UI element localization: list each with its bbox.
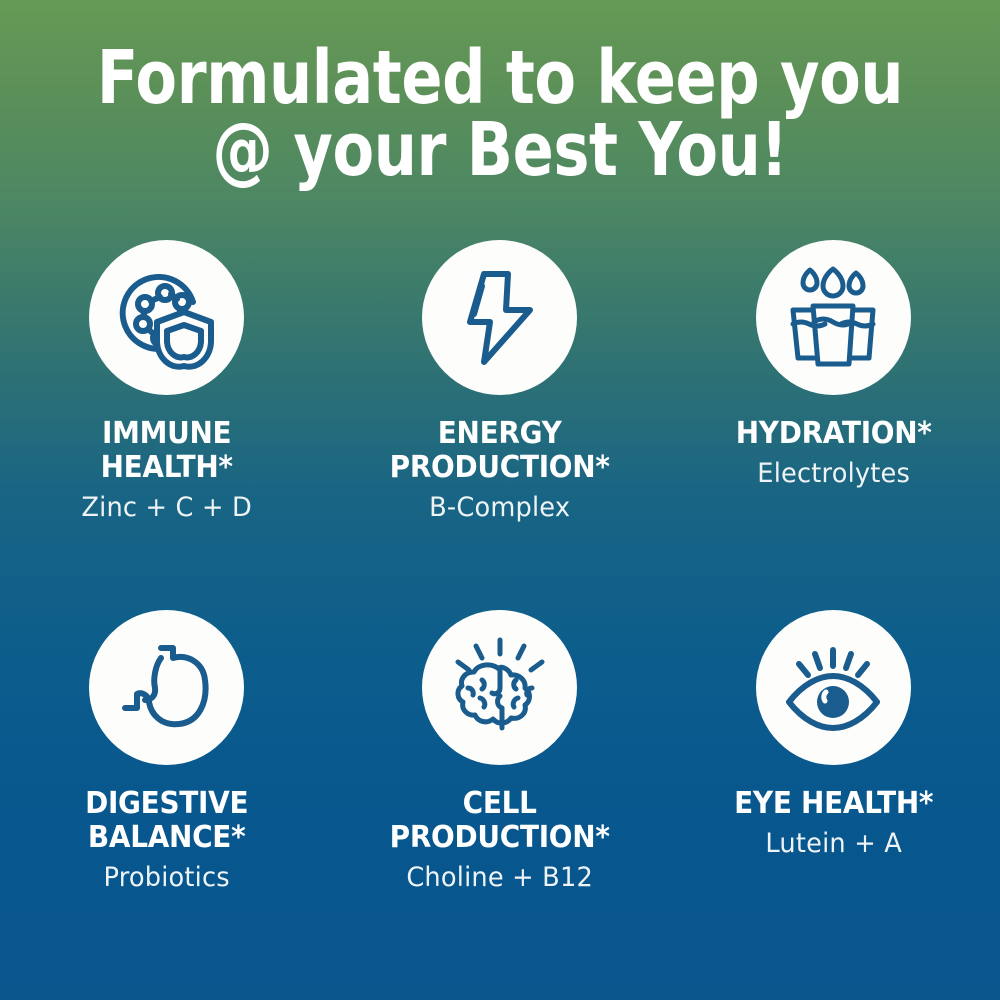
benefit-subtitle: B-Complex bbox=[342, 491, 659, 525]
benefit-labels: IMMUNE HEALTH* Zinc + C + D bbox=[0, 417, 333, 525]
benefit-title: HYDRATION* bbox=[678, 417, 988, 451]
promo-poster: Formulated to keep you @ your Best You! bbox=[0, 0, 1000, 1000]
benefit-title: EYE HEALTH* bbox=[678, 787, 988, 821]
stomach-icon bbox=[89, 610, 244, 765]
benefit-title: IMMUNE HEALTH* bbox=[12, 417, 322, 485]
brain-icon bbox=[422, 610, 577, 765]
benefit-title-line-1: CELL bbox=[463, 786, 537, 821]
benefit-subtitle: Lutein + A bbox=[675, 827, 992, 861]
benefit-title-line-1: EYE HEALTH* bbox=[734, 786, 933, 821]
benefits-grid: IMMUNE HEALTH* Zinc + C + D ENERGY PRODU… bbox=[0, 240, 1000, 980]
benefit-title: CELL PRODUCTION* bbox=[345, 787, 655, 855]
benefit-labels: ENERGY PRODUCTION* B-Complex bbox=[333, 417, 666, 525]
benefit-title-line-1: ENERGY bbox=[438, 416, 562, 451]
headline-line-1: Formulated to keep you bbox=[90, 42, 910, 114]
benefit-subtitle: Electrolytes bbox=[675, 457, 992, 491]
headline-line-2: @ your Best You! bbox=[90, 114, 910, 186]
benefit-item-eye-health: EYE HEALTH* Lutein + A bbox=[667, 610, 1000, 980]
benefit-item-energy-production: ENERGY PRODUCTION* B-Complex bbox=[333, 240, 666, 610]
benefit-item-hydration: HYDRATION* Electrolytes bbox=[667, 240, 1000, 610]
benefit-labels: EYE HEALTH* Lutein + A bbox=[667, 787, 1000, 861]
benefit-title: ENERGY PRODUCTION* bbox=[345, 417, 655, 485]
benefit-title-line-2: PRODUCTION* bbox=[390, 450, 610, 485]
benefit-title: DIGESTIVE BALANCE* bbox=[12, 787, 322, 855]
benefit-title-line-2: BALANCE* bbox=[88, 820, 245, 855]
benefit-item-cell-production: CELL PRODUCTION* Choline + B12 bbox=[333, 610, 666, 980]
eye-icon bbox=[756, 610, 911, 765]
benefit-title-line-1: HYDRATION* bbox=[735, 416, 931, 451]
benefit-subtitle: Probiotics bbox=[8, 861, 325, 895]
benefit-title-line-2: PRODUCTION* bbox=[390, 820, 610, 855]
benefit-subtitle: Choline + B12 bbox=[342, 861, 659, 895]
water-glasses-icon bbox=[756, 240, 911, 395]
benefit-title-line-1: IMMUNE bbox=[102, 416, 231, 451]
benefit-item-immune-health: IMMUNE HEALTH* Zinc + C + D bbox=[0, 240, 333, 610]
benefit-item-digestive-balance: DIGESTIVE BALANCE* Probiotics bbox=[0, 610, 333, 980]
benefit-labels: DIGESTIVE BALANCE* Probiotics bbox=[0, 787, 333, 895]
benefit-title-line-2: HEALTH* bbox=[101, 450, 233, 485]
benefit-title-line-1: DIGESTIVE bbox=[85, 786, 248, 821]
page-title: Formulated to keep you @ your Best You! bbox=[90, 42, 910, 186]
lightning-bolt-icon bbox=[422, 240, 577, 395]
benefit-labels: CELL PRODUCTION* Choline + B12 bbox=[333, 787, 666, 895]
virus-shield-icon bbox=[89, 240, 244, 395]
benefit-subtitle: Zinc + C + D bbox=[8, 491, 325, 525]
benefit-labels: HYDRATION* Electrolytes bbox=[667, 417, 1000, 491]
